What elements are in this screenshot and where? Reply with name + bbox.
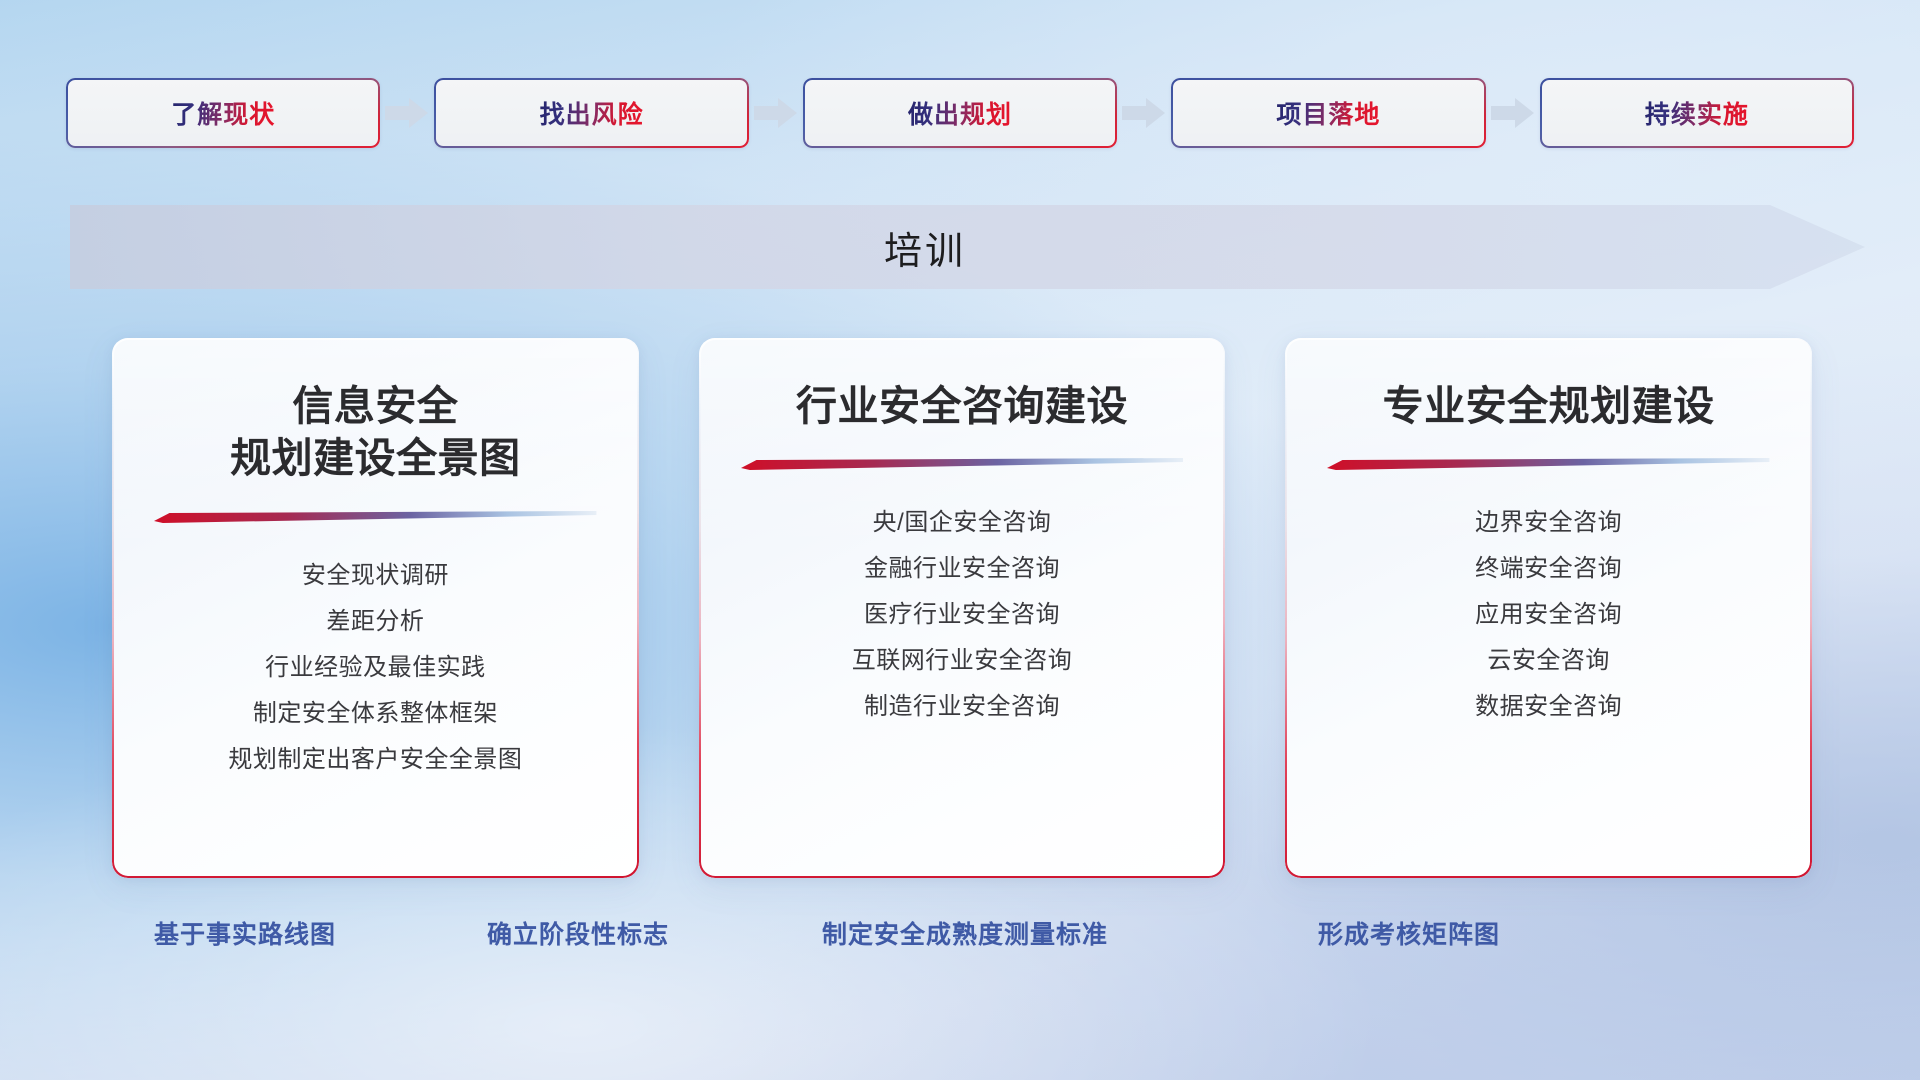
footnote-label: 确立阶段性标志 [487,915,669,951]
process-step-label: 了解现状 [171,95,275,131]
card-list-item: 安全现状调研 [228,553,522,599]
process-step-1[interactable]: 了解现状 [66,78,380,148]
card-list-item: 制定安全体系整体框架 [228,691,522,737]
process-step-3[interactable]: 做出规划 [803,78,1117,148]
card-title: 专业安全规划建设 [1383,380,1715,432]
process-step-row: 了解现状 找出风险 做出规划 项目落地 持续实施 [66,78,1854,148]
card-list-item: 差距分析 [228,599,522,645]
footnote-label: 形成考核矩阵图 [1318,915,1500,951]
process-step-label: 项目落地 [1276,95,1380,131]
card-divider-icon [154,511,596,523]
card-item-list: 安全现状调研 差距分析 行业经验及最佳实践 制定安全体系整体框架 规划制定出客户… [228,553,522,783]
card-list-item: 行业经验及最佳实践 [228,645,522,691]
banner-title: 培训 [70,205,1780,289]
footnote-label: 基于事实路线图 [154,915,336,951]
card-row: 信息安全 规划建设全景图 安全现状调研 差距分析 行业经验及最佳实践 制定安全体… [112,338,1812,878]
process-step-4[interactable]: 项目落地 [1171,78,1485,148]
process-step-label: 持续实施 [1645,95,1749,131]
arrow-right-icon [380,96,434,130]
card-list-item: 互联网行业安全咨询 [852,638,1073,684]
card-item-list: 央/国企安全咨询 金融行业安全咨询 医疗行业安全咨询 互联网行业安全咨询 制造行… [852,500,1073,730]
arrow-right-icon [1117,96,1171,130]
arrow-right-icon [1486,96,1540,130]
card-list-item: 边界安全咨询 [1475,500,1622,546]
footnote-row: 基于事实路线图 确立阶段性标志 制定安全成熟度测量标准 形成考核矩阵图 [0,915,1920,965]
card-list-item: 云安全咨询 [1475,638,1622,684]
training-banner: 培训 [70,205,1865,289]
card-list-item: 央/国企安全咨询 [852,500,1073,546]
card-title: 信息安全 规划建设全景图 [230,380,521,485]
process-step-2[interactable]: 找出风险 [434,78,748,148]
card-list-item: 医疗行业安全咨询 [852,592,1073,638]
process-step-5[interactable]: 持续实施 [1540,78,1854,148]
capability-card[interactable]: 专业安全规划建设 边界安全咨询 终端安全咨询 应用安全咨询 云安全咨询 数据安全… [1285,338,1812,878]
card-title: 行业安全咨询建设 [796,380,1128,432]
footnote-label: 制定安全成熟度测量标准 [822,915,1108,951]
card-list-item: 数据安全咨询 [1475,684,1622,730]
arrow-right-icon [749,96,803,130]
card-divider-icon [741,458,1183,470]
capability-card[interactable]: 行业安全咨询建设 央/国企安全咨询 金融行业安全咨询 医疗行业安全咨询 互联网行… [699,338,1226,878]
card-list-item: 金融行业安全咨询 [852,546,1073,592]
card-item-list: 边界安全咨询 终端安全咨询 应用安全咨询 云安全咨询 数据安全咨询 [1475,500,1622,730]
process-step-label: 找出风险 [540,95,644,131]
process-step-label: 做出规划 [908,95,1012,131]
card-list-item: 规划制定出客户安全全景图 [228,737,522,783]
card-list-item: 终端安全咨询 [1475,546,1622,592]
card-list-item: 应用安全咨询 [1475,592,1622,638]
capability-card[interactable]: 信息安全 规划建设全景图 安全现状调研 差距分析 行业经验及最佳实践 制定安全体… [112,338,639,878]
card-list-item: 制造行业安全咨询 [852,684,1073,730]
card-divider-icon [1327,458,1769,470]
